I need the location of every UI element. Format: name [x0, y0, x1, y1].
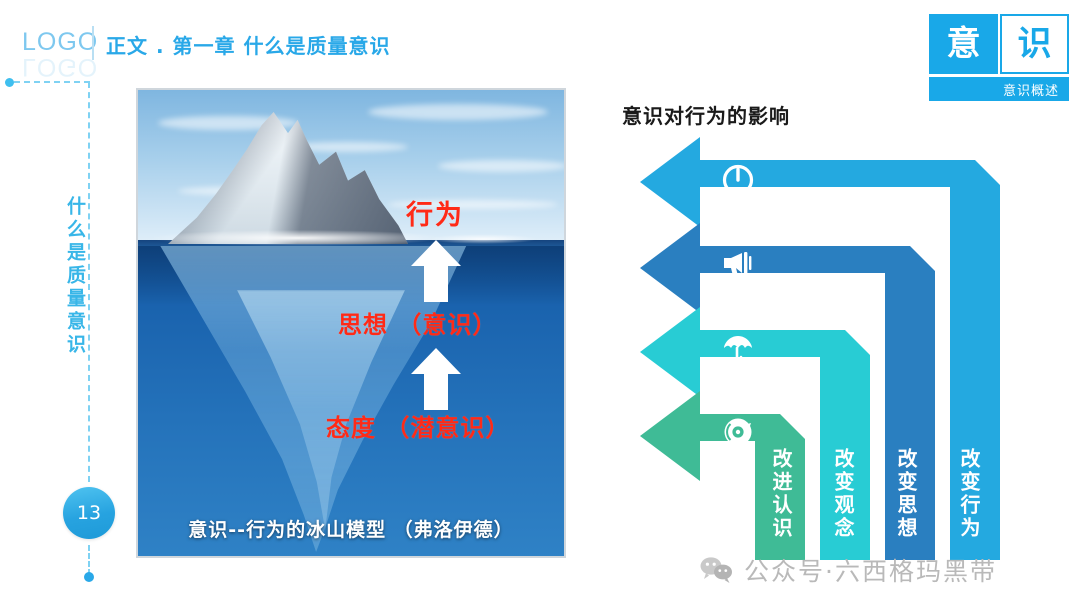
rail-dot-top [5, 78, 14, 87]
cloud [438, 160, 566, 172]
label-behavior: 行为 [406, 193, 464, 232]
bar-label-change-behavior: 改变行为 [959, 448, 979, 540]
picture-caption: 意识--行为的冰山模型 （弗洛伊德） [138, 515, 564, 542]
rail-dashed-horizontal [14, 81, 90, 83]
foam [428, 234, 538, 244]
cloud [368, 104, 548, 120]
watermark: 公众号·六西格玛黑带 [700, 552, 997, 588]
section-badge: 意 识 [929, 14, 1069, 74]
slide-root: LOGO LOGO 正文 . 第一章 什么是质量意识 意 识 意识概述 什么是质… [0, 0, 1080, 608]
logo-reflection: LOGO [22, 52, 98, 81]
watermark-text: 公众号·六西格玛黑带 [744, 552, 997, 588]
page-number-badge: 13 [63, 487, 115, 539]
rail-dashed-vertical [88, 82, 90, 482]
header-divider [92, 26, 94, 60]
bar-label-change-concept: 改变观念 [833, 448, 853, 540]
label-attitude: 态度 （潜意识） [326, 408, 510, 443]
diagram-title: 意识对行为的影响 [622, 100, 790, 129]
badge-char-1: 意 [929, 14, 998, 74]
cd-disc-icon [725, 419, 752, 446]
bar-label-change-thinking: 改变思想 [896, 448, 916, 540]
foam [152, 230, 442, 246]
badge-char-2: 识 [1000, 14, 1069, 74]
section-vertical-label: 什么是质量意识 [48, 196, 84, 357]
rail-dot-bottom [84, 572, 94, 582]
iceberg-photo: 行为 思想 （意识） 态度 （潜意识） 意识--行为的冰山模型 （弗洛伊德） [136, 88, 566, 558]
badge-subtitle: 意识概述 [929, 77, 1069, 101]
bar-label-improve-awareness: 改进认识 [771, 448, 791, 540]
label-thought: 思想 （意识） [338, 305, 497, 340]
page-title: 正文 . 第一章 什么是质量意识 [106, 30, 391, 59]
rail-dashed-vertical-lower [88, 545, 90, 575]
wechat-icon [700, 556, 734, 584]
